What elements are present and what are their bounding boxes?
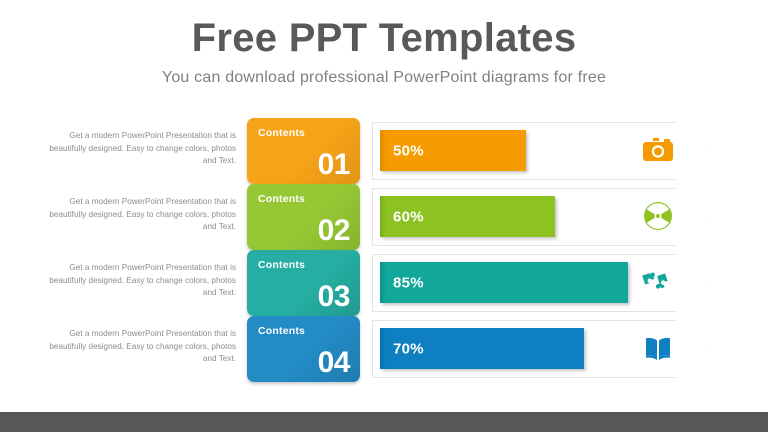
puzzle-icon <box>640 264 676 300</box>
card-number: 01 <box>318 148 350 182</box>
slide-header: Free PPT Templates You can download prof… <box>0 0 768 88</box>
diagram-row: Get a modern PowerPoint Presentation tha… <box>0 250 768 316</box>
diagram-row: Get a modern PowerPoint Presentation tha… <box>0 184 768 250</box>
book-icon <box>640 330 676 366</box>
page-title: Free PPT Templates <box>0 14 768 62</box>
camera-icon <box>640 132 676 168</box>
progress-bar-04[interactable]: 70% <box>380 328 584 369</box>
contents-card-03[interactable]: Contents 03 <box>247 250 360 316</box>
progress-value-label: 85% <box>393 274 424 291</box>
row-description: Get a modern PowerPoint Presentation tha… <box>48 328 236 366</box>
card-number: 04 <box>318 346 350 380</box>
progress-bar-03[interactable]: 85% <box>380 262 628 303</box>
diagram-row: Get a modern PowerPoint Presentation tha… <box>0 118 768 184</box>
card-label: Contents <box>258 325 305 337</box>
row-description: Get a modern PowerPoint Presentation tha… <box>48 262 236 300</box>
page-subtitle: You can download professional PowerPoint… <box>0 68 768 88</box>
progress-value-label: 50% <box>393 142 424 159</box>
progress-bar-02[interactable]: 60% <box>380 196 555 237</box>
card-label: Contents <box>258 127 305 139</box>
footer-bar <box>0 412 768 432</box>
contents-card-02[interactable]: Contents 02 <box>247 184 360 250</box>
card-number: 02 <box>318 214 350 248</box>
radiation-icon <box>640 198 676 234</box>
diagram-row: Get a modern PowerPoint Presentation tha… <box>0 316 768 382</box>
contents-card-04[interactable]: Contents 04 <box>247 316 360 382</box>
contents-card-01[interactable]: Contents 01 <box>247 118 360 184</box>
progress-bar-01[interactable]: 50% <box>380 130 526 171</box>
row-description: Get a modern PowerPoint Presentation tha… <box>48 196 236 234</box>
progress-value-label: 60% <box>393 208 424 225</box>
row-description: Get a modern PowerPoint Presentation tha… <box>48 130 236 168</box>
card-label: Contents <box>258 193 305 205</box>
bar-diagram: Get a modern PowerPoint Presentation tha… <box>0 118 768 392</box>
progress-value-label: 70% <box>393 340 424 357</box>
card-number: 03 <box>318 280 350 314</box>
card-label: Contents <box>258 259 305 271</box>
